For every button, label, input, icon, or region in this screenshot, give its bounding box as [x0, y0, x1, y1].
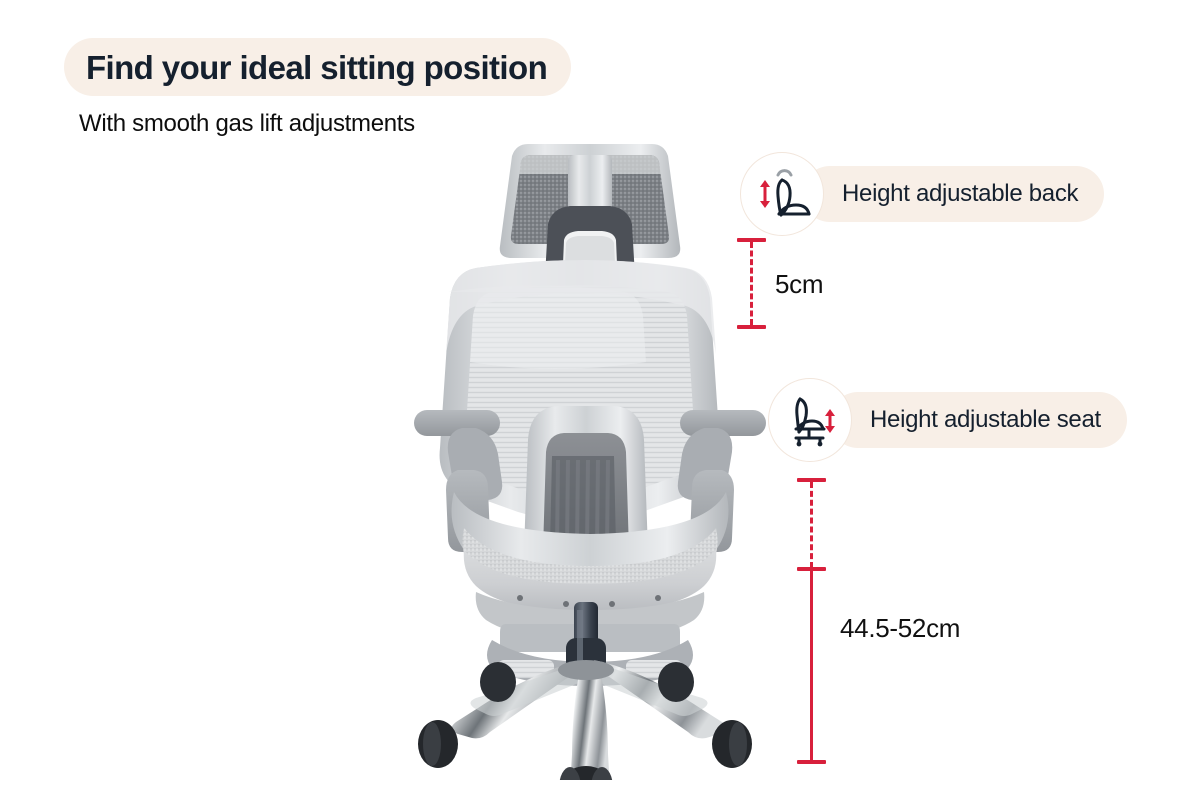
dimension-line-dashed: [750, 242, 753, 325]
dimension-value-backrest: 5cm: [775, 269, 823, 300]
product-image-office-chair: [380, 140, 800, 780]
office-chair-seat-height-icon: [768, 378, 852, 462]
infographic-canvas: Find your ideal sitting position With sm…: [0, 0, 1200, 800]
dimension-value-seat: 44.5-52cm: [840, 613, 960, 644]
callout-label-pill-seat: Height adjustable seat: [830, 392, 1127, 448]
callout-label-seat: Height adjustable seat: [870, 406, 1101, 434]
chair-backrest-height-icon: [740, 152, 824, 236]
callout-height-adjustable-seat[interactable]: Height adjustable seat: [768, 378, 1127, 462]
dimension-line-solid: [810, 571, 813, 762]
page-subtitle: With smooth gas lift adjustments: [79, 110, 415, 138]
dimension-line-dashed: [810, 482, 813, 568]
callout-height-adjustable-back[interactable]: Height adjustable back: [740, 152, 1104, 236]
page-title: Find your ideal sitting position: [86, 51, 547, 84]
callout-label-pill-back: Height adjustable back: [802, 166, 1104, 222]
chair-lumbar-support: [524, 406, 648, 550]
page-title-pill: Find your ideal sitting position: [64, 38, 571, 96]
dimension-cap-bottom: [797, 760, 826, 764]
callout-label-back: Height adjustable back: [842, 180, 1078, 208]
dimension-cap-bottom: [737, 325, 766, 329]
